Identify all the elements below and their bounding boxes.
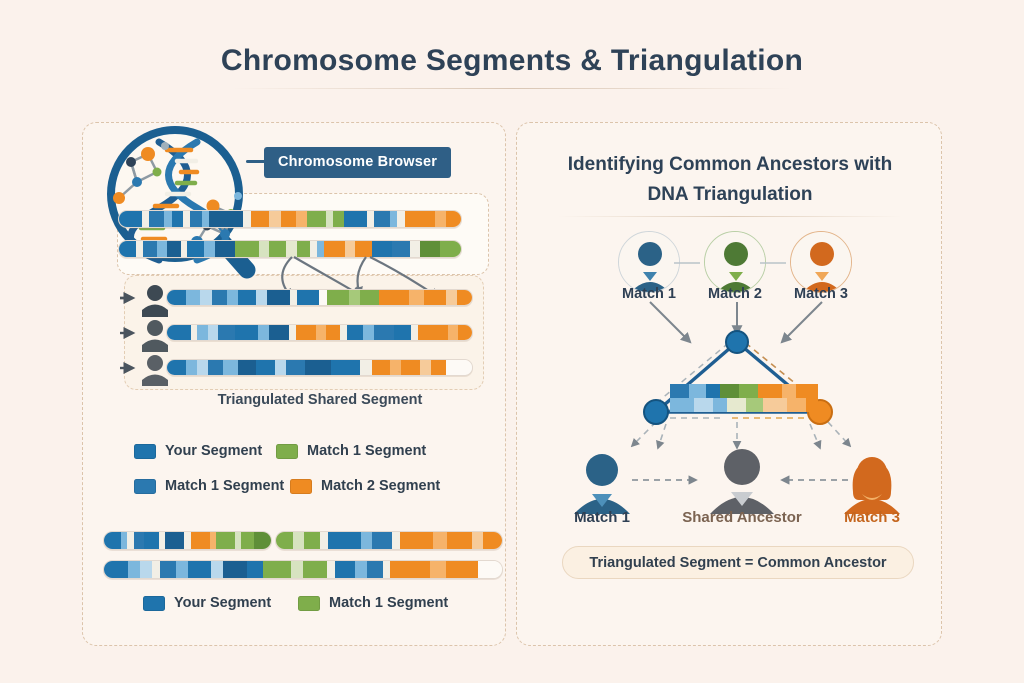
chromosome-segment [243, 211, 251, 227]
chromosome-segment [392, 532, 400, 549]
chromosome-segment [143, 241, 157, 257]
chromosome-segment [104, 532, 121, 549]
chromosome-segment [424, 290, 446, 305]
chromosome-segment [361, 532, 372, 549]
chromosome-segment [472, 532, 483, 549]
chromosome-segment [458, 325, 472, 340]
chromosome-segment [394, 325, 411, 340]
chromosome-segment [483, 532, 502, 549]
chromosome-segment [186, 360, 197, 375]
chromosome-segment [187, 241, 204, 257]
ancestor-convergence-arrows [630, 470, 850, 490]
chromosome-segment [457, 290, 472, 305]
chromosome-segment [181, 241, 188, 257]
chromosome-segment [167, 290, 186, 305]
bottom-chromosome-row-1b[interactable] [275, 531, 503, 550]
chromosome-segment [235, 241, 259, 257]
bottom-chromosome-row-2[interactable] [103, 560, 503, 579]
chromosome-segment [316, 325, 326, 340]
chromosome-segment [144, 532, 159, 549]
legend-swatch-blue-2 [134, 479, 156, 494]
chromosome-segment [211, 561, 223, 578]
chromosome-segment [326, 211, 334, 227]
chromosome-segment [397, 211, 405, 227]
chromosome-segment [335, 561, 355, 578]
chromosome-segment [223, 561, 247, 578]
chromosome-segment [256, 360, 275, 375]
legend-swatch-orange [290, 479, 312, 494]
legend-label: Your Segment [174, 595, 271, 611]
legend-label: Match 1 Segment [307, 443, 426, 459]
chromosome-segment [275, 360, 286, 375]
chromosome-segment [344, 211, 367, 227]
right-panel-heading: Identifying Common Ancestors with DNA Tr… [540, 150, 920, 210]
chromosome-segment [160, 561, 176, 578]
chromosome-segment [670, 384, 689, 398]
chromosome-segment [430, 561, 446, 578]
chromosome-segment [204, 241, 214, 257]
chromosome-segment [409, 290, 424, 305]
legend-swatch-green [276, 444, 298, 459]
legend-bottom-item-match1: Match 1 Segment [298, 595, 448, 611]
chromosome-segment [134, 532, 145, 549]
chromosome-segment [190, 211, 201, 227]
chromosome-browser-row-1[interactable] [118, 210, 462, 228]
triangulated-shared-segment-caption: Triangulated Shared Segment [174, 392, 466, 408]
chromosome-segment [670, 398, 694, 412]
chromosome-segment [374, 325, 394, 340]
chromosome-segment [447, 532, 472, 549]
chromosome-segment [223, 360, 238, 375]
chromosome-segment [304, 532, 321, 549]
legend-swatch-blue-3 [143, 596, 165, 611]
chromosome-segment [227, 290, 238, 305]
legend-item-match1-green: Match 1 Segment [276, 443, 426, 459]
segment-bar-top-row [670, 384, 818, 398]
legend-item-your-segment: Your Segment [134, 443, 262, 459]
chromosome-segment [119, 211, 142, 227]
chromosome-segment [706, 384, 720, 398]
chromosome-segment [172, 211, 183, 227]
chromosome-segment [326, 325, 340, 340]
chromosome-segment [390, 360, 401, 375]
chromosome-segment [165, 532, 184, 549]
chromosome-segment [152, 561, 160, 578]
triangulated-segment-pill-caption: Triangulated Segment = Common Ancestor [562, 546, 914, 579]
chromosome-segment [390, 561, 430, 578]
chromosome-segment [372, 360, 391, 375]
chromosome-segment [209, 211, 243, 227]
chromosome-segment [296, 325, 316, 340]
chromosome-segment [411, 325, 418, 340]
chromosome-segment [183, 211, 191, 227]
chromosome-segment [401, 360, 420, 375]
figure-label-match-3: Match 3 [797, 509, 947, 526]
chromosome-segment [140, 561, 152, 578]
chromosome-segment [259, 241, 269, 257]
chromosome-segment [374, 211, 389, 227]
chromosome-segment [238, 360, 257, 375]
chromosome-segment [333, 211, 344, 227]
chromosome-segment [435, 211, 446, 227]
person-figure-icon-match-1 [566, 452, 638, 514]
chromosome-segment [787, 398, 806, 412]
chromosome-segment [319, 290, 326, 305]
page-title: Chromosome Segments & Triangulation [0, 44, 1024, 78]
chromosome-segment [347, 325, 364, 340]
chromosome-segment [176, 561, 188, 578]
triangulation-diagram [600, 300, 880, 450]
chromosome-segment [218, 325, 235, 340]
chromosome-segment [157, 241, 167, 257]
chromosome-segment [186, 290, 201, 305]
chromosome-segment [238, 290, 257, 305]
chromosome-segment [418, 325, 449, 340]
chromosome-segment [360, 360, 371, 375]
chromosome-segment [254, 532, 271, 549]
chromosome-segment [200, 290, 211, 305]
chromosome-segment [363, 325, 373, 340]
chromosome-segment [286, 360, 305, 375]
chromosome-segment [405, 211, 435, 227]
chromosome-segment [796, 384, 817, 398]
segment-bar-bottom-row [670, 398, 818, 412]
figure-label-match-1: Match 1 [527, 509, 677, 526]
chromosome-segment [303, 561, 327, 578]
chromosome-segment [119, 241, 136, 257]
chromosome-segment [167, 241, 181, 257]
chromosome-segment [128, 561, 140, 578]
chromosome-segment [293, 532, 304, 549]
chromosome-segment [431, 360, 446, 375]
chromosome-segment [104, 561, 128, 578]
heading-line-2: DNA Triangulation [540, 180, 920, 210]
chromosome-segment [367, 211, 375, 227]
chromosome-segment [208, 325, 218, 340]
chromosome-segment [256, 290, 267, 305]
chromosome-segment [746, 398, 763, 412]
avatar-connectors [670, 258, 800, 268]
chromosome-segment [763, 398, 787, 412]
infographic-canvas: Chromosome Segments & Triangulation [0, 0, 1024, 683]
chromosome-segment [197, 360, 208, 375]
figure-label-shared-ancestor: Shared Ancestor [667, 509, 817, 526]
chromosome-segment [806, 398, 818, 412]
chromosome-segment [215, 241, 236, 257]
chromosome-segment [291, 561, 303, 578]
chromosome-segment [383, 561, 391, 578]
chromosome-segment [327, 290, 349, 305]
chromosome-segment [164, 211, 172, 227]
chromosome-segment [360, 290, 379, 305]
chromosome-segment [720, 384, 739, 398]
legend-label: Match 1 Segment [329, 595, 448, 611]
chromosome-segment [235, 325, 259, 340]
chromosome-segment [269, 325, 289, 340]
chromosome-segment [739, 384, 758, 398]
chromosome-segment [446, 211, 461, 227]
legend-swatch-blue [134, 444, 156, 459]
badge-connector [246, 160, 266, 163]
chromosome-segment [433, 532, 447, 549]
chromosome-segment [142, 211, 150, 227]
chromosome-segment [167, 325, 191, 340]
chromosome-segment [241, 532, 254, 549]
chromosome-segment [136, 241, 143, 257]
chromosome-segment [448, 325, 458, 340]
legend-label: Match 2 Segment [321, 478, 440, 494]
chromosome-segment [149, 211, 164, 227]
chromosome-segment [327, 561, 335, 578]
chromosome-segment [328, 532, 361, 549]
triangulated-row-3[interactable] [166, 359, 473, 376]
chromosome-segment [478, 561, 502, 578]
chromosome-segment [167, 360, 186, 375]
chromosome-segment [446, 561, 478, 578]
chromosome-segment [446, 290, 457, 305]
legend-bottom-item-your-segment: Your Segment [143, 595, 271, 611]
chromosome-segment [258, 325, 268, 340]
chromosome-segment [281, 211, 296, 227]
chromosome-segment [297, 290, 319, 305]
chromosome-segment [276, 532, 293, 549]
chromosome-segment [188, 561, 212, 578]
chromosome-segment [713, 398, 727, 412]
chromosome-browser-badge[interactable]: Chromosome Browser [264, 147, 451, 178]
chromosome-segment [216, 532, 235, 549]
legend-item-match2-orange: Match 2 Segment [290, 478, 440, 494]
chromosome-segment [782, 384, 796, 398]
chromosome-segment [758, 384, 782, 398]
chromosome-segment [212, 290, 227, 305]
chromosome-segment [689, 384, 706, 398]
chromosome-segment [340, 325, 347, 340]
triangulated-row-2[interactable] [166, 324, 473, 341]
chromosome-segment [290, 290, 297, 305]
chromosome-segment [307, 211, 326, 227]
chromosome-segment [331, 360, 361, 375]
legend-item-match1-blue: Match 1 Segment [134, 478, 284, 494]
chromosome-segment [267, 290, 289, 305]
title-divider [232, 88, 792, 89]
triangulated-row-1[interactable] [166, 289, 473, 306]
legend-label: Your Segment [165, 443, 262, 459]
chromosome-segment [208, 360, 223, 375]
triangulated-segment-bar[interactable] [670, 384, 818, 412]
chromosome-segment [349, 290, 360, 305]
chromosome-segment [263, 561, 291, 578]
chromosome-segment [379, 290, 409, 305]
chromosome-segment [305, 360, 331, 375]
chromosome-segment [446, 360, 472, 375]
chromosome-segment [372, 532, 391, 549]
chromosome-segment [269, 211, 280, 227]
chromosome-segment [400, 532, 433, 549]
chromosome-segment [251, 211, 270, 227]
chromosome-segment [191, 532, 210, 549]
heading-line-1: Identifying Common Ancestors with [540, 150, 920, 180]
chromosome-segment [694, 398, 713, 412]
chromosome-segment [727, 398, 746, 412]
chromosome-segment [367, 561, 383, 578]
chromosome-segment [420, 360, 431, 375]
right-heading-divider [558, 216, 902, 217]
chromosome-segment [355, 561, 367, 578]
bottom-chromosome-row-1a[interactable] [103, 531, 272, 550]
chromosome-segment [247, 561, 263, 578]
chromosome-segment [390, 211, 398, 227]
chromosome-segment [289, 325, 296, 340]
legend-label: Match 1 Segment [165, 478, 284, 494]
chromosome-segment [197, 325, 207, 340]
chromosome-segment [191, 325, 198, 340]
chromosome-segment [320, 532, 328, 549]
chromosome-segment [296, 211, 307, 227]
legend-swatch-green-2 [298, 596, 320, 611]
chromosome-segment [202, 211, 210, 227]
